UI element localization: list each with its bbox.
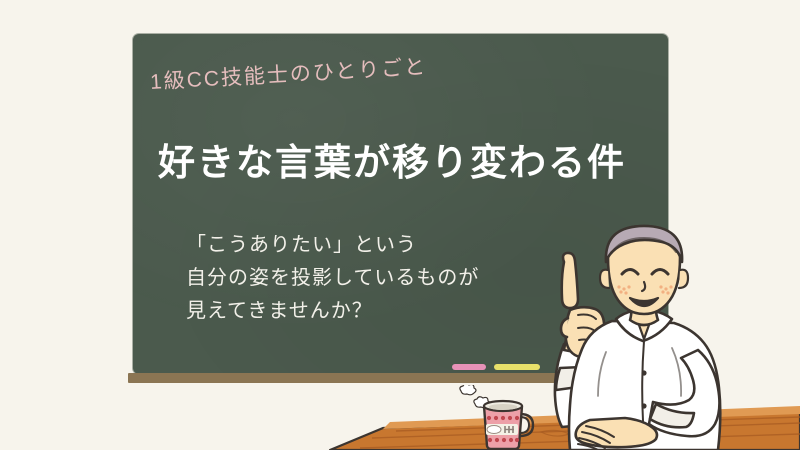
chalk-pink-icon (452, 364, 486, 370)
slide-canvas: 1級CC技能士のひとりごと 好きな言葉が移り変わる件 「こうありたい」という 自… (0, 0, 800, 450)
board-title: 好きな言葉が移り変わる件 (158, 132, 626, 186)
smiling-man-pointing-up (520, 218, 760, 450)
board-body-text: 「こうありたい」という 自分の姿を投影しているものが 見えてきませんか？ (186, 229, 479, 328)
